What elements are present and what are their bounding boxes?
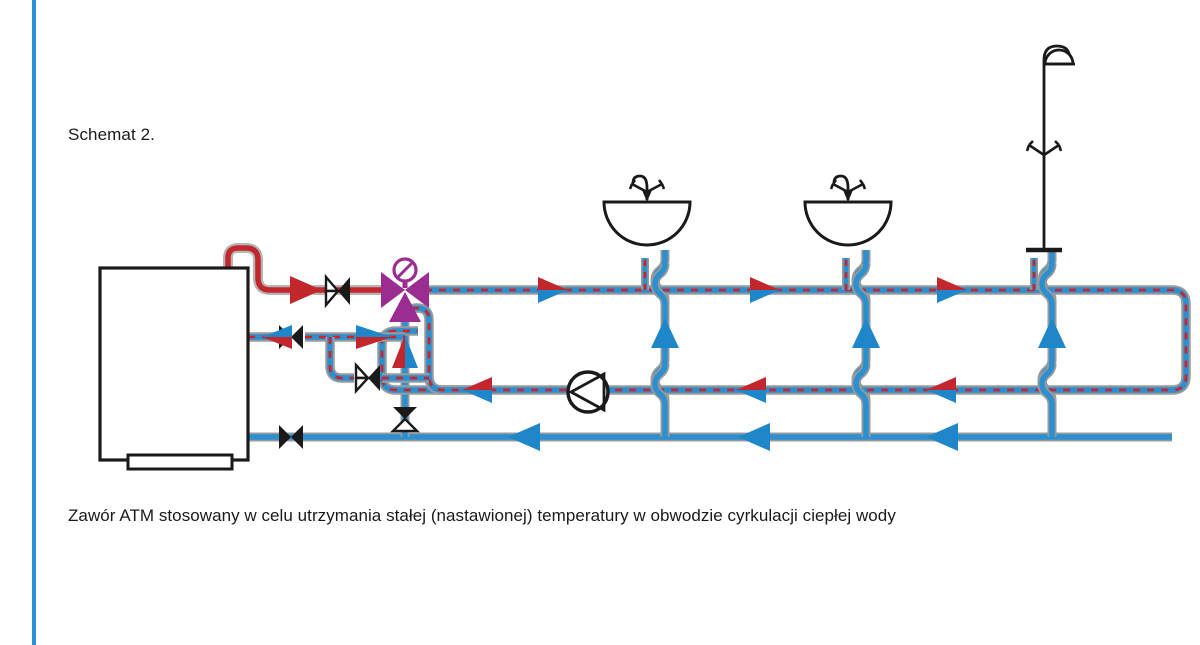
flow-arrow-cold [508, 423, 540, 451]
shutoff-valve-cold-inlet[interactable] [279, 425, 303, 449]
flow-arrow-cold [926, 423, 958, 451]
shower-fixture [1026, 46, 1075, 250]
diagram-page: Schemat 2. [0, 0, 1200, 645]
flow-arrow-cold-riser [852, 318, 880, 348]
figure-caption: Zawór ATM stosowany w celu utrzymania st… [68, 506, 896, 526]
flow-arrow-cold-in [262, 325, 292, 349]
hot-supply-header [425, 290, 1186, 390]
flow-arrow-hot [290, 276, 322, 304]
circulation-pump[interactable] [568, 372, 608, 412]
hydraulic-schematic [0, 0, 1200, 645]
wash-basin-2 [805, 176, 891, 245]
flow-arrow-cold-riser [651, 318, 679, 348]
flow-arrow-hot [937, 277, 967, 303]
faucet-icon [630, 176, 664, 202]
flow-arrow-cold-riser [1038, 318, 1066, 348]
check-valve-lower-branch[interactable] [356, 365, 380, 391]
flow-arrow-return [926, 377, 956, 403]
flow-arrow-cold [738, 423, 770, 451]
flow-arrow-return [736, 377, 766, 403]
drain-valve-vertical[interactable] [393, 407, 417, 431]
faucet-icon [831, 176, 865, 202]
flow-arrow-hot [750, 277, 780, 303]
wash-basin-1 [604, 176, 690, 246]
flow-arrow-return [462, 377, 492, 403]
water-heater-tank [100, 268, 248, 469]
flow-arrow-hot [538, 277, 568, 303]
cold-riser-bridges [655, 264, 1052, 404]
check-valve-hot-supply[interactable] [326, 277, 350, 305]
